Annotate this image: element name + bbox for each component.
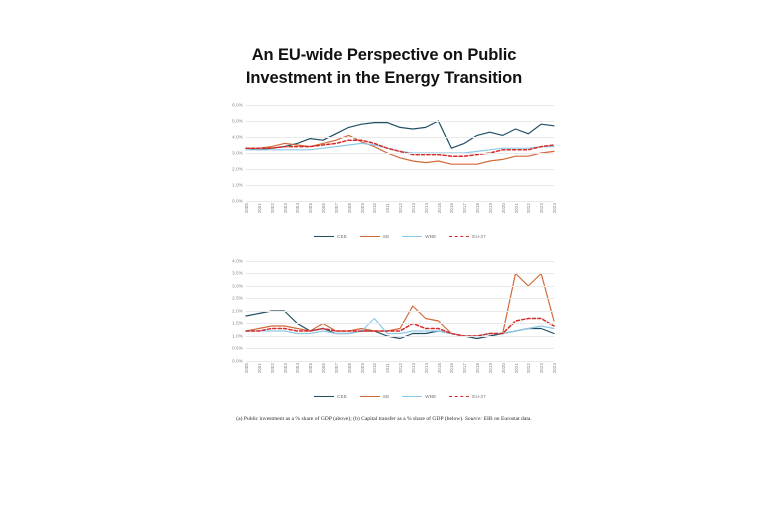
x-axis-bottom: 2000200120022003200420052006200720082009… <box>246 361 554 391</box>
y-tick-label: 6.0% <box>232 102 243 107</box>
x-tick-label: 2008 <box>347 203 352 213</box>
x-tick-label: 2006 <box>321 363 326 373</box>
legend-swatch-se <box>360 236 380 237</box>
gridline <box>246 121 554 122</box>
x-tick-label: 2005 <box>308 203 313 213</box>
legend-label: WNE <box>425 234 436 239</box>
y-tick-label: 3.5% <box>232 271 243 276</box>
gridline <box>246 273 554 274</box>
plot-wrap-bottom: 0.0%0.5%1.0%1.5%2.0%2.5%3.0%3.5%4.0% <box>214 261 554 361</box>
y-tick-label: 0.5% <box>232 346 243 351</box>
legend-item-se[interactable]: SE <box>360 234 389 239</box>
gridline <box>246 348 554 349</box>
x-tick-label: 2000 <box>244 203 249 213</box>
series-line-se <box>246 273 554 336</box>
y-tick-label: 1.5% <box>232 321 243 326</box>
caption-part-b: (below). <box>445 416 464 422</box>
x-tick-label: 2014 <box>424 363 429 373</box>
plot-area-bottom <box>246 261 554 361</box>
y-tick-label: 1.0% <box>232 182 243 187</box>
x-tick-label: 2024 <box>552 203 557 213</box>
x-tick-label: 2020 <box>501 363 506 373</box>
y-axis-bottom: 0.0%0.5%1.0%1.5%2.0%2.5%3.0%3.5%4.0% <box>214 261 246 361</box>
legend-item-eu-27[interactable]: EU-27 <box>449 394 486 399</box>
x-tick-label: 2022 <box>526 363 531 373</box>
gridline <box>246 336 554 337</box>
y-tick-label: 2.0% <box>232 166 243 171</box>
x-tick-label: 2021 <box>514 363 519 373</box>
y-tick-label: 2.0% <box>232 308 243 313</box>
legend-swatch-se <box>360 396 380 397</box>
x-tick-label: 2023 <box>539 363 544 373</box>
page-title: An EU-wide Perspective on Public Investm… <box>214 44 554 91</box>
legend-label: WNE <box>425 394 436 399</box>
legend-item-cee[interactable]: CEE <box>314 234 347 239</box>
x-tick-label: 2002 <box>270 203 275 213</box>
x-tick-label: 2004 <box>295 363 300 373</box>
y-tick-label: 1.0% <box>232 333 243 338</box>
x-tick-label: 2009 <box>360 363 365 373</box>
legend-label: SE <box>383 234 389 239</box>
x-tick-label: 2010 <box>372 203 377 213</box>
x-tick-label: 2015 <box>437 363 442 373</box>
legend-swatch-wne <box>402 396 422 397</box>
x-tick-label: 2009 <box>360 203 365 213</box>
legend-item-wne[interactable]: WNE <box>402 234 436 239</box>
x-tick-label: 2022 <box>526 203 531 213</box>
legend-swatch-wne <box>402 236 422 237</box>
gridline <box>246 311 554 312</box>
y-tick-label: 0.0% <box>232 198 243 203</box>
y-tick-label: 5.0% <box>232 118 243 123</box>
figure-caption: (a) Public investment as a % share of GD… <box>224 415 544 424</box>
x-tick-label: 2012 <box>398 203 403 213</box>
x-tick-label: 2021 <box>514 203 519 213</box>
gridline <box>246 261 554 262</box>
gridline <box>246 137 554 138</box>
x-tick-label: 2016 <box>449 203 454 213</box>
x-tick-label: 2006 <box>321 203 326 213</box>
x-tick-label: 2016 <box>449 363 454 373</box>
legend-label: CEE <box>337 234 347 239</box>
x-tick-label: 2011 <box>385 203 390 213</box>
gridline <box>246 105 554 106</box>
x-tick-label: 2000 <box>244 363 249 373</box>
legend-swatch-cee <box>314 236 334 237</box>
y-axis-top: 0.0%1.0%2.0%3.0%4.0%5.0%6.0% <box>214 105 246 201</box>
x-tick-label: 2007 <box>334 203 339 213</box>
legend-bottom: CEESEWNEEU-27 <box>246 394 554 399</box>
x-tick-label: 2019 <box>488 363 493 373</box>
legend-item-wne[interactable]: WNE <box>402 394 436 399</box>
x-tick-label: 2005 <box>308 363 313 373</box>
x-tick-label: 2018 <box>475 203 480 213</box>
x-tick-label: 2012 <box>398 363 403 373</box>
legend-item-se[interactable]: SE <box>360 394 389 399</box>
gridline <box>246 286 554 287</box>
figure-page: An EU-wide Perspective on Public Investm… <box>0 0 768 510</box>
legend-swatch-cee <box>314 396 334 397</box>
series-line-cee <box>246 121 554 150</box>
x-tick-label: 2013 <box>411 203 416 213</box>
caption-part-a: (a) Public investment as a % share of GD… <box>236 416 443 422</box>
x-tick-label: 2008 <box>347 363 352 373</box>
gridline <box>246 185 554 186</box>
x-tick-label: 2004 <box>295 203 300 213</box>
y-tick-label: 3.0% <box>232 283 243 288</box>
x-tick-label: 2003 <box>283 363 288 373</box>
legend-item-eu-27[interactable]: EU-27 <box>449 234 486 239</box>
x-tick-label: 2001 <box>257 363 262 373</box>
gridline <box>246 298 554 299</box>
x-tick-label: 2019 <box>488 203 493 213</box>
x-tick-label: 2003 <box>283 203 288 213</box>
caption-source-text: EIB on Eurostat data. <box>484 416 532 422</box>
x-tick-label: 2015 <box>437 203 442 213</box>
x-tick-label: 2002 <box>270 363 275 373</box>
y-tick-label: 0.0% <box>232 358 243 363</box>
y-tick-label: 4.0% <box>232 134 243 139</box>
x-tick-label: 2018 <box>475 363 480 373</box>
legend-label: CEE <box>337 394 347 399</box>
x-tick-label: 2001 <box>257 203 262 213</box>
legend-swatch-eu-27 <box>449 236 469 237</box>
chart-public-investment: 0.0%1.0%2.0%3.0%4.0%5.0%6.0% 20002001200… <box>214 105 554 239</box>
x-tick-label: 2017 <box>462 203 467 213</box>
x-tick-label: 2011 <box>385 363 390 373</box>
legend-item-cee[interactable]: CEE <box>314 394 347 399</box>
x-axis-top: 2000200120022003200420052006200720082009… <box>246 201 554 231</box>
x-tick-label: 2023 <box>539 203 544 213</box>
legend-swatch-eu-27 <box>449 396 469 397</box>
caption-source-label: Source: <box>465 416 482 422</box>
plot-area-top <box>246 105 554 201</box>
legend-label: EU-27 <box>472 394 486 399</box>
legend-label: EU-27 <box>472 234 486 239</box>
y-tick-label: 3.0% <box>232 150 243 155</box>
legend-label: SE <box>383 394 389 399</box>
x-tick-label: 2013 <box>411 363 416 373</box>
gridline <box>246 323 554 324</box>
chart-capital-transfer: 0.0%0.5%1.0%1.5%2.0%2.5%3.0%3.5%4.0% 200… <box>214 261 554 399</box>
x-tick-label: 2007 <box>334 363 339 373</box>
series-line-cee <box>246 311 554 339</box>
plot-wrap-top: 0.0%1.0%2.0%3.0%4.0%5.0%6.0% <box>214 105 554 201</box>
x-tick-label: 2024 <box>552 363 557 373</box>
legend-top: CEESEWNEEU-27 <box>246 234 554 239</box>
x-tick-label: 2010 <box>372 363 377 373</box>
x-tick-label: 2014 <box>424 203 429 213</box>
y-tick-label: 4.0% <box>232 258 243 263</box>
y-tick-label: 2.5% <box>232 296 243 301</box>
x-tick-label: 2017 <box>462 363 467 373</box>
gridline <box>246 169 554 170</box>
x-tick-label: 2020 <box>501 203 506 213</box>
gridline <box>246 153 554 154</box>
